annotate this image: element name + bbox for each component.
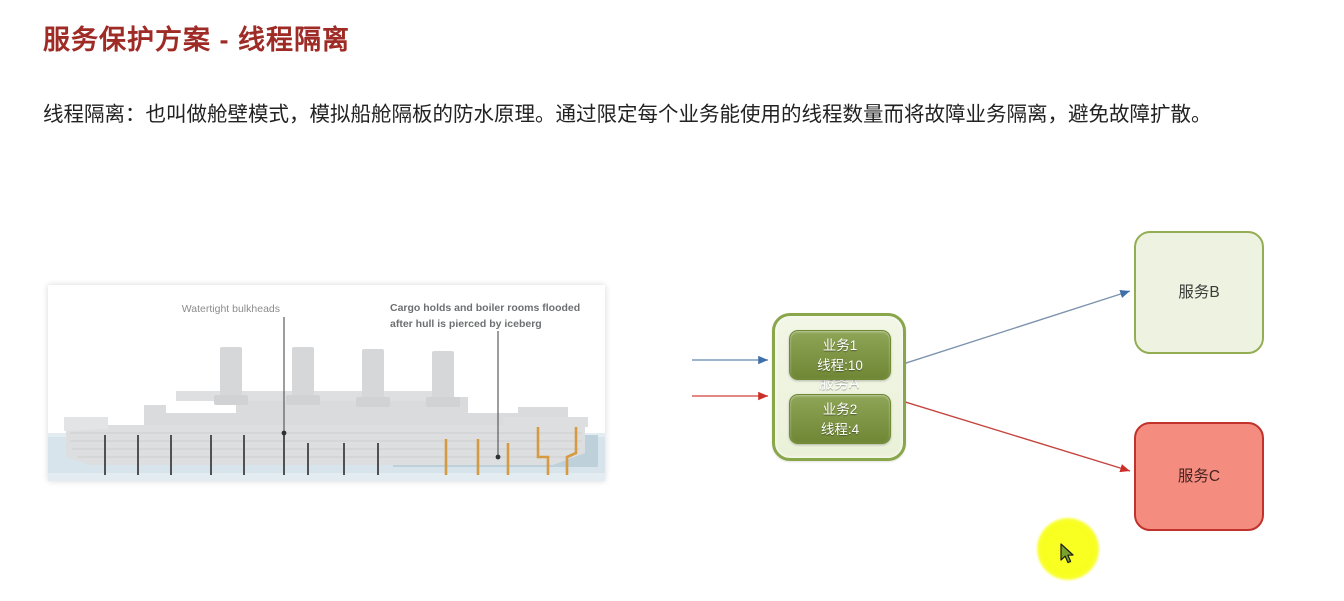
thread-isolation-diagram: 服务A 业务1 线程:10 业务2 线程:4 服务B 服务C xyxy=(660,200,1320,600)
service-b-node[interactable]: 服务B xyxy=(1134,231,1264,354)
mouse-cursor-icon xyxy=(1060,543,1076,565)
business-pool-2[interactable]: 业务2 线程:4 xyxy=(789,394,891,444)
service-a-container[interactable]: 服务A 业务1 线程:10 业务2 线程:4 xyxy=(772,313,906,461)
titanic-bulkhead-svg: Watertight bulkheads Cargo holds and boi… xyxy=(48,285,605,481)
service-c-node[interactable]: 服务C xyxy=(1134,422,1264,531)
business-1-name: 业务1 xyxy=(790,331,890,353)
arrow-business1-to-serviceb xyxy=(878,291,1130,372)
arrow-business2-to-servicec xyxy=(876,393,1130,471)
business-2-name: 业务2 xyxy=(790,395,890,417)
business-1-threads: 线程:10 xyxy=(790,353,890,373)
label-flooded-line2: after hull is pierced by iceberg xyxy=(390,318,542,330)
slide-body-text: 线程隔离：也叫做舱壁模式，模拟船舱隔板的防水原理。通过限定每个业务能使用的线程数… xyxy=(43,92,1301,137)
business-2-threads: 线程:4 xyxy=(790,417,890,437)
titanic-illustration: Watertight bulkheads Cargo holds and boi… xyxy=(48,285,605,481)
label-flooded-line1: Cargo holds and boiler rooms flooded xyxy=(390,302,580,314)
business-pool-1[interactable]: 业务1 线程:10 xyxy=(789,330,891,380)
page-title: 服务保护方案 - 线程隔离 xyxy=(43,18,350,57)
label-watertight-bulkheads: Watertight bulkheads xyxy=(182,303,280,315)
